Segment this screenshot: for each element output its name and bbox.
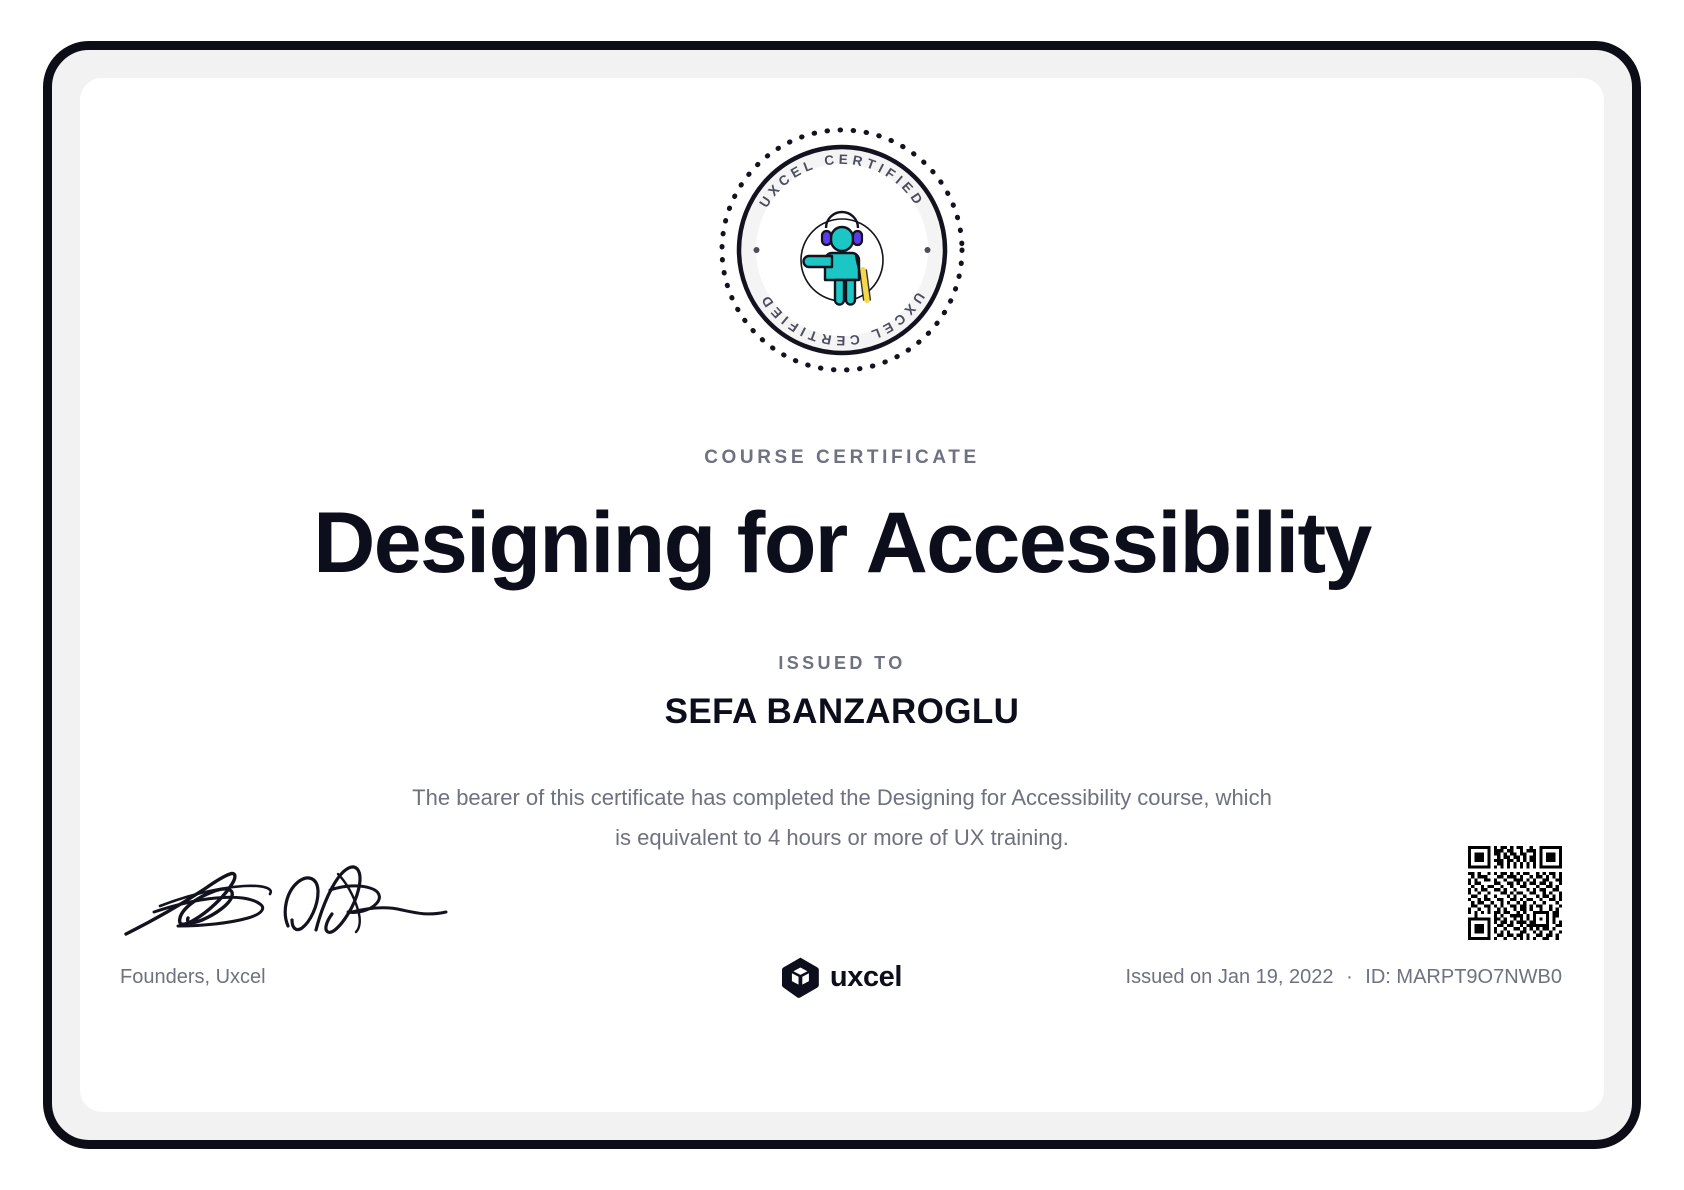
page-title: Designing for Accessibility [80, 491, 1604, 595]
certificate-description: The bearer of this certificate has compl… [412, 778, 1272, 858]
uxcel-wordmark: uxcel [830, 961, 902, 994]
uxcel-certified-seal: UXCEL CERTIFIED UXCEL CERTIFIED [716, 124, 968, 376]
certificate-frame: UXCEL CERTIFIED UXCEL CERTIFIED [43, 41, 1641, 1149]
issue-metadata: Issued on Jan 19, 2022 · ID: MARPT9O7NWB… [1126, 966, 1562, 989]
issued-to-label: ISSUED TO [80, 653, 1604, 674]
founders-label: Founders, Uxcel [120, 966, 266, 989]
uxcel-hex-cube-logo-icon [782, 957, 819, 998]
issue-date: Issued on Jan 19, 2022 [1126, 966, 1334, 988]
certificate-card: UXCEL CERTIFIED UXCEL CERTIFIED [80, 78, 1604, 1112]
certificate-id: ID: MARPT9O7NWB0 [1365, 966, 1562, 988]
meta-separator: · [1339, 966, 1360, 988]
certificate-page: UXCEL CERTIFIED UXCEL CERTIFIED [0, 0, 1684, 1190]
course-certificate-kicker: COURSE CERTIFICATE [80, 447, 1604, 469]
verification-qr-code[interactable] [1468, 846, 1562, 940]
founder-signatures [120, 860, 450, 950]
uxcel-brand: uxcel [782, 957, 902, 998]
recipient-name: SEFA BANZAROGLU [80, 692, 1604, 732]
